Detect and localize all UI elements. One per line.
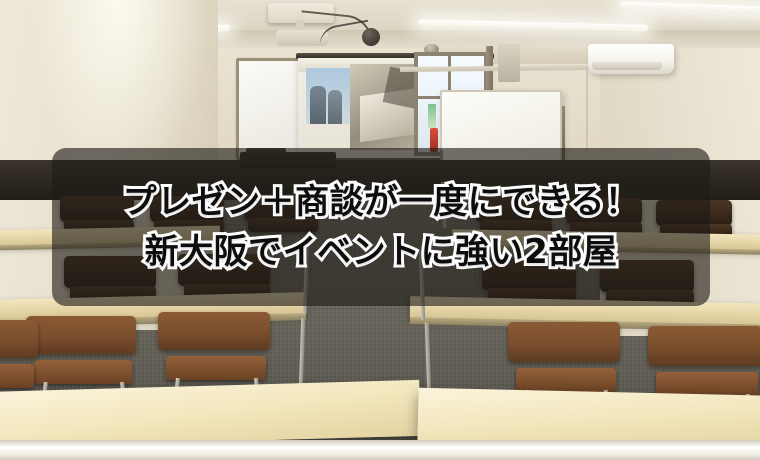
air-conditioner-vent bbox=[592, 62, 662, 70]
caption-line-2: 新大阪でイベントに強い2部屋 bbox=[145, 231, 618, 273]
caption-block: プレゼン＋商談が一度にできる！ 新大阪でイベントに強い2部屋 bbox=[52, 148, 710, 306]
air-conditioner-pipe bbox=[586, 68, 588, 154]
front-desk-edge bbox=[0, 440, 760, 460]
promo-banner-screenshot: プレゼン＋商談が一度にできる！ 新大阪でイベントに強い2部屋 bbox=[0, 0, 760, 460]
caption-line-1: プレゼン＋商談が一度にできる！ bbox=[123, 181, 640, 223]
wall-vent bbox=[498, 44, 520, 82]
ceiling-speaker-icon bbox=[362, 28, 380, 46]
emergency-sign-icon bbox=[428, 104, 436, 128]
